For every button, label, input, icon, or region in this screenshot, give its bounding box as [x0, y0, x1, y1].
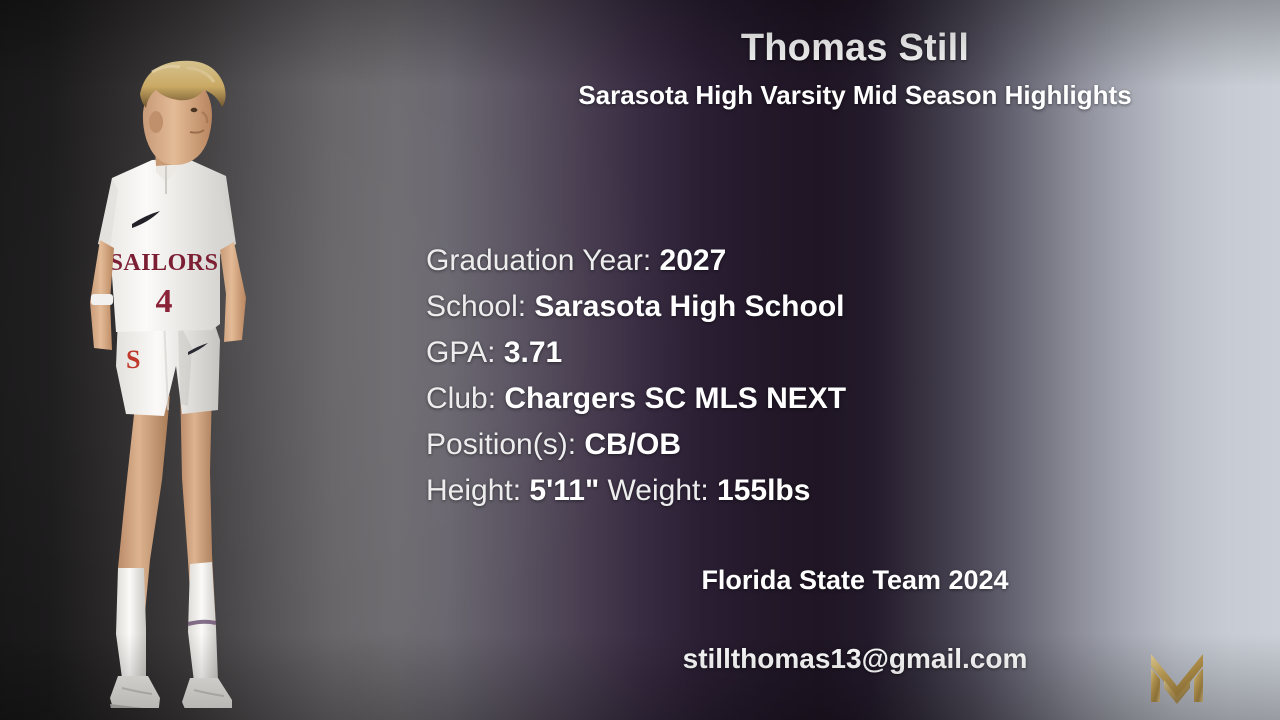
height-label: Height:	[426, 474, 521, 507]
info-row-graduation-year: Graduation Year: 2027	[426, 238, 1126, 284]
info-label: Graduation Year:	[426, 244, 651, 277]
svg-text:S: S	[126, 345, 140, 374]
info-row-positions: Position(s): CB/OB	[426, 422, 1126, 468]
info-value: Sarasota High School	[534, 290, 844, 323]
state-team-line: Florida State Team 2024	[430, 565, 1280, 596]
player-info-list: Graduation Year: 2027 School: Sarasota H…	[426, 238, 1126, 514]
info-row-school: School: Sarasota High School	[426, 284, 1126, 330]
weight-label: Weight:	[608, 474, 709, 507]
info-value: 2027	[660, 244, 727, 277]
svg-text:SAILORS: SAILORS	[110, 250, 219, 276]
info-label: Position(s):	[426, 428, 576, 461]
m-logo-watermark-icon	[1144, 646, 1210, 708]
slide-subtitle: Sarasota High Varsity Mid Season Highlig…	[430, 77, 1280, 115]
weight-value: 155lbs	[717, 474, 810, 507]
info-row-height-weight: Height: 5'11" Weight: 155lbs	[426, 468, 1126, 514]
info-label: School:	[426, 290, 526, 323]
headline-block: Thomas Still Sarasota High Varsity Mid S…	[430, 26, 1280, 115]
info-value: Chargers SC MLS NEXT	[504, 382, 846, 415]
info-label: Club:	[426, 382, 496, 415]
player-photo: S SAILORS 4	[60, 48, 300, 708]
info-label: GPA:	[426, 336, 495, 369]
info-row-gpa: GPA: 3.71	[426, 330, 1126, 376]
info-value: 3.71	[504, 336, 562, 369]
height-value: 5'11"	[529, 474, 599, 507]
info-value: CB/OB	[584, 428, 681, 461]
svg-text:4: 4	[156, 283, 173, 320]
info-row-club: Club: Chargers SC MLS NEXT	[426, 376, 1126, 422]
player-name: Thomas Still	[430, 26, 1280, 71]
highlight-slide: S SAILORS 4	[0, 0, 1280, 720]
